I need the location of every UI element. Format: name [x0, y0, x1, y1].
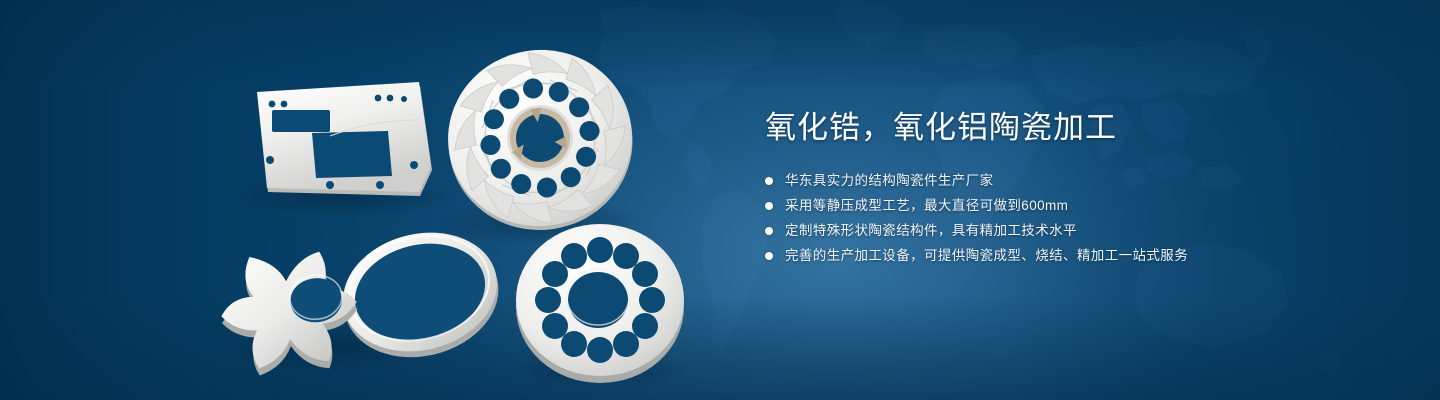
bullet-dot-icon: [765, 202, 773, 210]
bullet-label: 完善的生产加工设备，可提供陶瓷成型、烧结、精加工一站式服务: [785, 245, 1188, 266]
ceramic-plate-with-cutouts: [257, 82, 432, 196]
list-item: 采用等静压成型工艺，最大直径可做到600mm: [765, 195, 1385, 216]
list-item: 完善的生产加工设备，可提供陶瓷成型、烧结、精加工一站式服务: [765, 245, 1385, 266]
banner-headline: 氧化锆，氧化铝陶瓷加工: [765, 108, 1385, 148]
banner-text-block: 氧化锆，氧化铝陶瓷加工 华东具实力的结构陶瓷件生产厂家 采用等静压成型工艺，最大…: [765, 108, 1385, 270]
list-item: 华东具实力的结构陶瓷件生产厂家: [765, 170, 1385, 191]
ceramic-perforated-disc: [516, 224, 684, 383]
bullet-dot-icon: [765, 252, 773, 260]
product-photo-group: [0, 0, 720, 400]
banner-feature-list: 华东具实力的结构陶瓷件生产厂家 采用等静压成型工艺，最大直径可做到600mm 定…: [765, 170, 1385, 266]
hero-banner: 氧化锆，氧化铝陶瓷加工 华东具实力的结构陶瓷件生产厂家 采用等静压成型工艺，最大…: [0, 0, 1440, 400]
bullet-label: 定制特殊形状陶瓷结构件，具有精加工技术水平: [785, 220, 1077, 241]
list-item: 定制特殊形状陶瓷结构件，具有精加工技术水平: [765, 220, 1385, 241]
bullet-dot-icon: [765, 227, 773, 235]
bullet-dot-icon: [765, 177, 773, 185]
bullet-label: 采用等静压成型工艺，最大直径可做到600mm: [785, 195, 1068, 216]
bullet-label: 华东具实力的结构陶瓷件生产厂家: [785, 170, 994, 191]
